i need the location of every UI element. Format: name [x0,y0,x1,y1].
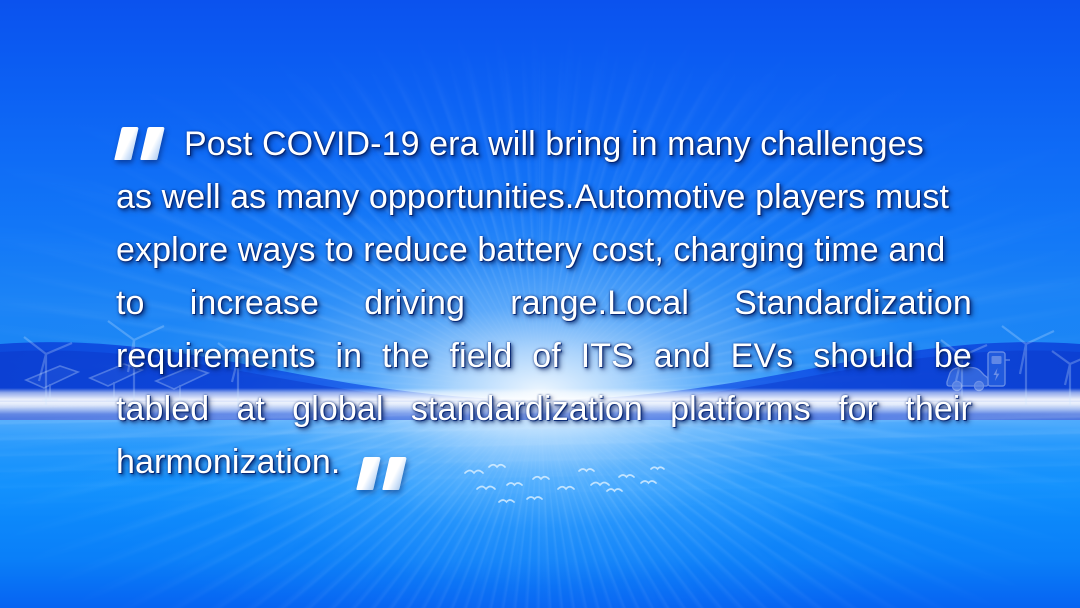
quote-word: for [838,383,878,436]
closing-quote-mark [358,455,414,489]
quote-word: in [336,330,363,383]
quote-word: to [116,277,145,330]
opening-quote-mark [116,125,172,159]
quote-word: global [292,383,383,436]
quote-word: of [532,330,561,383]
quote-word: EVs [731,330,794,383]
quote-line-1-text: Post COVID-19 era will bring in many cha… [184,125,924,163]
quote-word: should [813,330,914,383]
quote-word: be [934,330,972,383]
quote-word: their [905,383,972,436]
quote-line-2-text: as well as many opportunities.Automotive… [116,178,949,216]
quote-line-4: to increase driving range.Local Standard… [116,277,972,330]
quote-word: standardization [411,383,643,436]
quote-line-5: requirements in the field of ITS and EVs… [116,330,972,383]
quote-line-1: Post COVID-19 era will bring in many cha… [116,118,972,171]
quote-line-6: tabled at global standardization platfor… [116,383,972,436]
quote-line-7: harmonization. [116,436,972,489]
quote-word: Standardization [734,277,972,330]
quote-word: range.Local [510,277,689,330]
quote-word: the [382,330,430,383]
quote-word: tabled [116,383,209,436]
quote-word: at [236,383,265,436]
quote-line-3: explore ways to reduce battery cost, cha… [116,224,972,277]
quote-line-7-text: harmonization. [116,436,340,489]
quote-line-2: as well as many opportunities.Automotive… [116,171,972,224]
quote-block: Post COVID-19 era will bring in many cha… [116,118,972,489]
quote-word: driving [364,277,465,330]
quote-word: ITS [581,330,634,383]
ev-charging-station-icon [988,352,1010,386]
quote-slide: Post COVID-19 era will bring in many cha… [0,0,1080,608]
quote-line-3-text: explore ways to reduce battery cost, cha… [116,231,945,269]
quote-word: field [450,330,513,383]
quote-word: platforms [670,383,811,436]
quote-word: requirements [116,330,316,383]
quote-word: increase [190,277,319,330]
quote-word: and [654,330,711,383]
